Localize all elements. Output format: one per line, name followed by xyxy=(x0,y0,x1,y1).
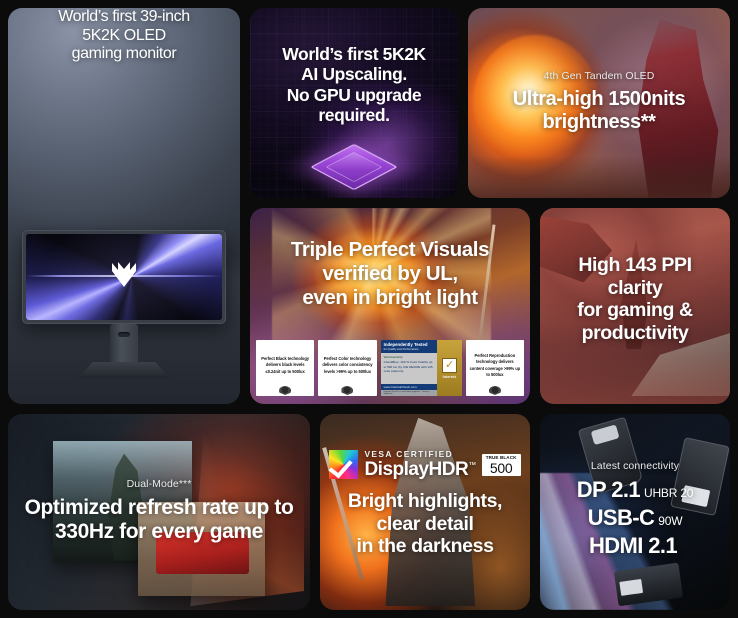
intertek-checklist: Workmanship CheckBlue: 100 % Color Fidel… xyxy=(381,353,438,384)
spec-name: HDMI 2.1 xyxy=(589,533,677,558)
triple-perfect-headline: Triple Perfect Visuals verified by UL, e… xyxy=(250,238,530,309)
intertek-disclaimer: Intertek Check is a verification program… xyxy=(381,390,438,396)
ul-badge-perfect-black: Perfect Black technology delivers black … xyxy=(256,340,314,396)
displayhdr-wordmark: VESA CERTIFIED DisplayHDR™ xyxy=(364,450,475,479)
connectivity-eyebrow: Latest connectivity xyxy=(540,460,730,472)
display-hdr-headline: Bright highlights, clear detail in the d… xyxy=(320,490,530,558)
badge-text: Perfect Color technology delivers color … xyxy=(321,356,373,374)
ground-gradient xyxy=(468,156,730,198)
hero-headline: World’s first 39-inch 5K2K OLED gaming m… xyxy=(8,8,240,64)
card-brightness[interactable]: 4th Gen Tandem OLED Ultra-high 1500nits … xyxy=(468,8,730,198)
badge-text: Perfect Black technology delivers black … xyxy=(259,356,311,374)
check-box-icon: ✓ xyxy=(442,358,457,373)
monitor-bezel xyxy=(22,230,226,324)
card-connectivity[interactable]: Latest connectivity DP 2.1UHBR 20 USB-C9… xyxy=(540,414,730,610)
monitor-stand-base xyxy=(78,362,170,378)
card-hero-monitor[interactable]: World’s first 39-inch 5K2K OLED gaming m… xyxy=(8,8,240,404)
intertek-seal: ✓ Intertek xyxy=(437,340,461,396)
monitor-stand-neck xyxy=(110,324,138,364)
spec-name: USB-C xyxy=(588,505,655,530)
intertek-body: Independently Tested for Quality and Per… xyxy=(381,340,438,396)
spec-detail: UHBR 20 xyxy=(644,486,693,500)
connectivity-row-dp: DP 2.1UHBR 20 xyxy=(540,476,730,504)
intertek-header: Independently Tested for Quality and Per… xyxy=(381,340,438,353)
certification-badge-row: Perfect Black technology delivers black … xyxy=(256,340,524,396)
dual-mode-eyebrow: Dual-Mode*** xyxy=(8,478,310,490)
vesa-displayhdr-badge: VESA CERTIFIED DisplayHDR™ TRUE BLACK 50… xyxy=(320,450,530,479)
card-display-hdr[interactable]: VESA CERTIFIED DisplayHDR™ TRUE BLACK 50… xyxy=(320,414,530,610)
ul-mark-icon xyxy=(341,386,353,395)
connectivity-row-usbc: USB-C90W xyxy=(540,504,730,532)
intertek-seal-label: Intertek xyxy=(443,375,457,379)
badge-text: Perfect Reproduction technology delivers… xyxy=(469,353,521,378)
displayhdr-text: DisplayHDR xyxy=(364,459,468,480)
card-ppi-clarity[interactable]: High 143 PPI clarity for gaming & produc… xyxy=(540,208,730,404)
intertek-check-line-2: CheckBlue: 100 % Color Fidelity up to 50… xyxy=(384,360,435,374)
spec-name: DP 2.1 xyxy=(577,477,640,502)
refresh-rate-headline: Optimized refresh rate up to 330Hz for e… xyxy=(8,496,310,545)
monitor-product-image xyxy=(14,226,234,386)
true-black-value: 500 xyxy=(486,461,517,475)
card-ai-upscaling[interactable]: World’s first 5K2K AI Upscaling. No GPU … xyxy=(250,8,458,198)
spec-detail: 90W xyxy=(658,514,682,528)
intertek-certificate-panel: Independently Tested for Quality and Per… xyxy=(381,340,462,396)
lg-ultragear-logo xyxy=(106,261,142,287)
dust-gradient xyxy=(540,345,730,404)
monitor-screen xyxy=(26,234,222,320)
ul-mark-icon xyxy=(489,386,501,395)
vesa-color-check-icon xyxy=(329,450,358,479)
ai-upscaling-headline: World’s first 5K2K AI Upscaling. No GPU … xyxy=(250,44,458,125)
brightness-headline: Ultra-high 1500nits brightness** xyxy=(468,88,730,134)
connectivity-row-hdmi: HDMI 2.1 xyxy=(540,532,730,560)
true-black-500-badge: TRUE BLACK 500 xyxy=(482,454,521,476)
ul-badge-perfect-color: Perfect Color technology delivers color … xyxy=(318,340,376,396)
trademark-symbol: ™ xyxy=(468,461,476,470)
brightness-eyebrow: 4th Gen Tandem OLED xyxy=(468,70,730,82)
feature-grid: World’s first 39-inch 5K2K OLED gaming m… xyxy=(0,0,738,618)
vesa-certified-label: VESA CERTIFIED xyxy=(364,450,475,458)
connectivity-spec-list: DP 2.1UHBR 20 USB-C90W HDMI 2.1 xyxy=(540,476,730,560)
ul-badge-perfect-reproduction: Perfect Reproduction technology delivers… xyxy=(466,340,524,396)
intertek-subtitle: for Quality and Performance xyxy=(384,347,435,351)
card-refresh-rate[interactable]: Dual-Mode*** Optimized refresh rate up t… xyxy=(8,414,310,610)
ul-mark-icon xyxy=(279,386,291,395)
ppi-headline: High 143 PPI clarity for gaming & produc… xyxy=(540,254,730,344)
displayhdr-label: DisplayHDR™ xyxy=(364,460,475,479)
card-triple-perfect-visuals[interactable]: Triple Perfect Visuals verified by UL, e… xyxy=(250,208,530,404)
